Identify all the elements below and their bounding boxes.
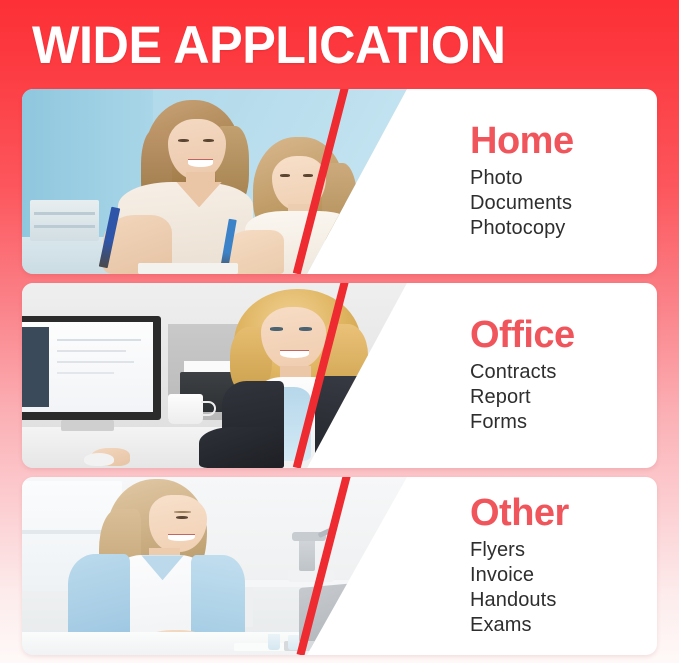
list-item: Exams xyxy=(470,613,556,638)
monitor-stand xyxy=(61,420,115,431)
card-heading-home: Home xyxy=(470,122,574,162)
paper-on-desk xyxy=(138,263,238,274)
white-desk xyxy=(22,632,407,655)
screen-text-line xyxy=(57,339,142,342)
office-chair xyxy=(361,372,407,468)
book-stack xyxy=(30,200,99,241)
photo-other-scene xyxy=(22,477,407,655)
screen-sidebar xyxy=(22,327,49,407)
wide-application-poster: WIDE APPLICATION xyxy=(0,0,679,663)
woman-right-eye xyxy=(203,139,215,142)
screen-text-line xyxy=(57,361,134,364)
girl-right-eye xyxy=(303,174,313,177)
screen-text-line xyxy=(57,372,115,375)
application-card-home[interactable]: Home Photo Documents Photocopy xyxy=(22,89,657,274)
table-leg xyxy=(345,587,353,626)
businesswoman-right-eye xyxy=(299,327,312,330)
glass-tube xyxy=(268,634,280,650)
plant-leaf xyxy=(343,616,375,645)
plant-leaf xyxy=(357,616,376,636)
list-item: Photocopy xyxy=(470,216,572,241)
list-item: Photo xyxy=(470,166,572,191)
list-item: Documents xyxy=(470,191,572,216)
application-card-other[interactable]: Other Flyers Invoice Handouts Exams xyxy=(22,477,657,655)
coffee-mug xyxy=(168,394,203,424)
businesswoman-smile xyxy=(280,350,309,358)
list-item: Forms xyxy=(470,410,557,435)
text-pane-other: Other Flyers Invoice Handouts Exams xyxy=(470,477,657,655)
photo-office-scene xyxy=(22,283,407,468)
businesswoman-left-eye xyxy=(270,327,283,330)
plant-leaf xyxy=(362,613,394,642)
computer-mouse xyxy=(84,453,115,466)
screen-text-line xyxy=(57,350,126,353)
list-item: Invoice xyxy=(470,563,556,588)
photo-other xyxy=(22,477,407,655)
photo-home xyxy=(22,89,407,274)
list-item: Report xyxy=(470,385,557,410)
photo-home-scene xyxy=(22,89,407,274)
text-pane-office: Office Contracts Report Forms xyxy=(470,283,657,468)
blazer-right-lapel xyxy=(315,376,384,469)
woman-face-profile xyxy=(149,495,207,552)
card-list-office: Contracts Report Forms xyxy=(470,360,557,436)
list-item: Flyers xyxy=(470,538,556,563)
photo-office xyxy=(22,283,407,468)
list-item: Handouts xyxy=(470,588,556,613)
card-list-home: Photo Documents Photocopy xyxy=(470,166,572,242)
blazer-sleeve xyxy=(199,427,284,468)
text-pane-home: Home Photo Documents Photocopy xyxy=(470,89,657,274)
girl-left-eye xyxy=(280,174,290,177)
microscope-arm xyxy=(299,536,314,572)
plant-pot xyxy=(353,637,392,655)
list-item: Contracts xyxy=(470,360,557,385)
page-title: WIDE APPLICATION xyxy=(32,18,602,74)
card-heading-other: Other xyxy=(470,494,569,534)
microscope-base xyxy=(288,570,334,582)
card-list-other: Flyers Invoice Handouts Exams xyxy=(470,538,556,639)
application-card-office[interactable]: Office Contracts Report Forms xyxy=(22,283,657,468)
table-leg xyxy=(245,587,253,626)
woman-left-eye xyxy=(178,139,190,142)
card-heading-office: Office xyxy=(470,316,575,356)
woman-eyebrow xyxy=(174,511,191,513)
woman-smile xyxy=(188,159,213,166)
